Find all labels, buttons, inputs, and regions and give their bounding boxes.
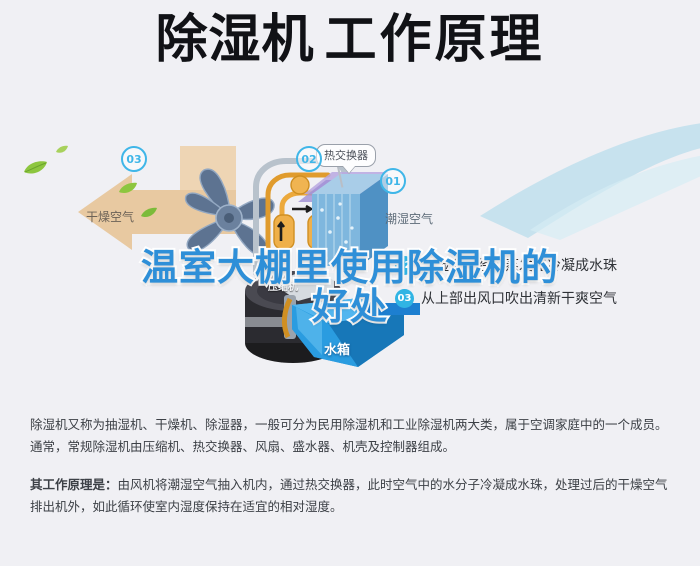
dry-air-label: 干燥空气 <box>86 208 134 225</box>
water-tank-label: 水箱 <box>324 339 350 358</box>
legend-item: 02 潮湿空气经过蒸发器冷凝成水珠 <box>395 255 695 275</box>
leaf-icon <box>22 160 48 181</box>
humid-air-swoosh-graphic <box>410 120 700 240</box>
leaf-icon <box>118 182 138 200</box>
page-header: 除湿机工作原理 <box>0 14 700 66</box>
body-paragraph-2-lead: 其工作原理是： <box>30 477 118 492</box>
diagram-marker-01: 01 <box>380 168 406 194</box>
body-paragraph-2: 其工作原理是：由风机将潮湿空气抽入机内，通过热交换器，此时空气中的水分子冷凝成水… <box>30 474 675 518</box>
leaf-icon <box>140 206 158 224</box>
body-paragraph-2-rest: 由风机将潮湿空气抽入机内，通过热交换器，此时空气中的水分子冷凝成水珠，处理过后的… <box>30 477 668 514</box>
diagram-marker-03: 03 <box>121 146 147 172</box>
page-title-part2: 工作原理 <box>325 10 545 70</box>
page-title: 除湿机工作原理 <box>155 14 544 66</box>
legend-badge-03: 03 <box>395 289 414 308</box>
leaf-icon <box>55 142 69 160</box>
legend-item: 03 从上部出风口吹出清新干爽空气 <box>395 288 695 308</box>
heat-exchanger-callout: 热交换器 <box>316 144 376 167</box>
legend-list: 02 潮湿空气经过蒸发器冷凝成水珠 03 从上部出风口吹出清新干爽空气 <box>395 255 695 321</box>
legend-text-02: 潮湿空气经过蒸发器冷凝成水珠 <box>421 255 617 275</box>
legend-badge-02: 02 <box>395 256 414 275</box>
humid-air-label: 潮湿空气 <box>385 210 433 227</box>
compressor-label: 压缩机 <box>268 278 298 293</box>
legend-text-03: 从上部出风口吹出清新干爽空气 <box>421 288 617 308</box>
article-body: 除湿机又称为抽湿机、干燥机、除湿器，一般可分为民用除湿机和工业除湿机两大类，属于… <box>30 414 675 534</box>
page-title-part1: 除湿机 <box>155 10 314 70</box>
body-paragraph-1: 除湿机又称为抽湿机、干燥机、除湿器，一般可分为民用除湿机和工业除湿机两大类，属于… <box>30 414 675 458</box>
diagram-marker-02: 02 <box>296 146 322 172</box>
